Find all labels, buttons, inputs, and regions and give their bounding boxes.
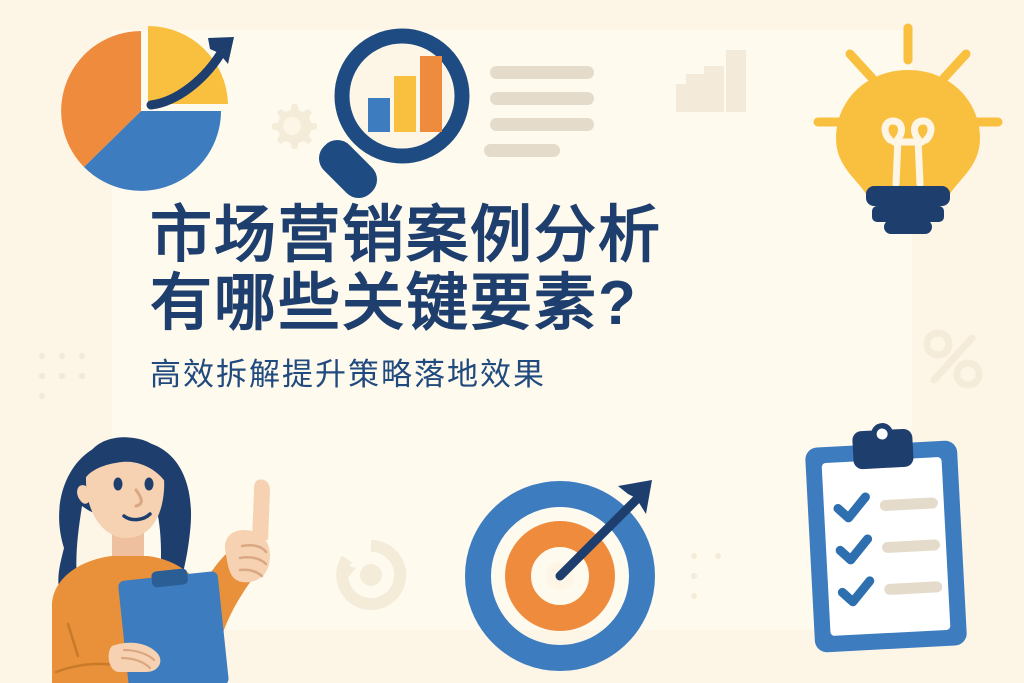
dot-grid-watermark-right [688,550,742,604]
woman-eye-right [145,478,154,491]
magnifier-bar-1 [368,98,390,132]
woman-pointing-with-clipboard [12,428,282,683]
title-line-1: 市场营销案例分析 [150,202,850,270]
doc-line-3 [490,118,594,131]
doc-line-2 [490,92,594,105]
headline-block: 市场营销案例分析 有哪些关键要素? 高效拆解提升策略落地效果 [150,202,850,394]
magnifier-bar-2 [394,76,416,132]
percent-watermark [918,324,988,394]
pie-chart-with-growth-arrow [58,26,248,206]
subtitle: 高效拆解提升策略落地效果 [150,356,850,394]
magnifier-bar-3 [420,56,442,132]
title-line-2: 有哪些关键要素? [150,270,850,338]
bulb-base [866,186,950,234]
index-finger [252,479,270,540]
magnifier-with-bar-chart [328,28,508,208]
bar-chart-watermark [672,42,752,114]
gear-watermark [266,100,318,152]
target-with-arrow [468,476,668,681]
clipboard-clip [852,421,914,469]
woman-pointing-hand [225,479,270,582]
doc-line-1 [490,66,594,79]
document-lines [484,60,604,170]
poster-canvas: 市场营销案例分析 有哪些关键要素? 高效拆解提升策略落地效果 [0,0,1024,683]
refresh-loop-watermark [334,538,408,612]
clipboard-checklist [796,424,976,674]
bulb-glass [836,70,980,194]
dot-grid-watermark-left [36,350,98,412]
woman-eye-left [114,478,123,491]
doc-line-4 [484,144,560,157]
